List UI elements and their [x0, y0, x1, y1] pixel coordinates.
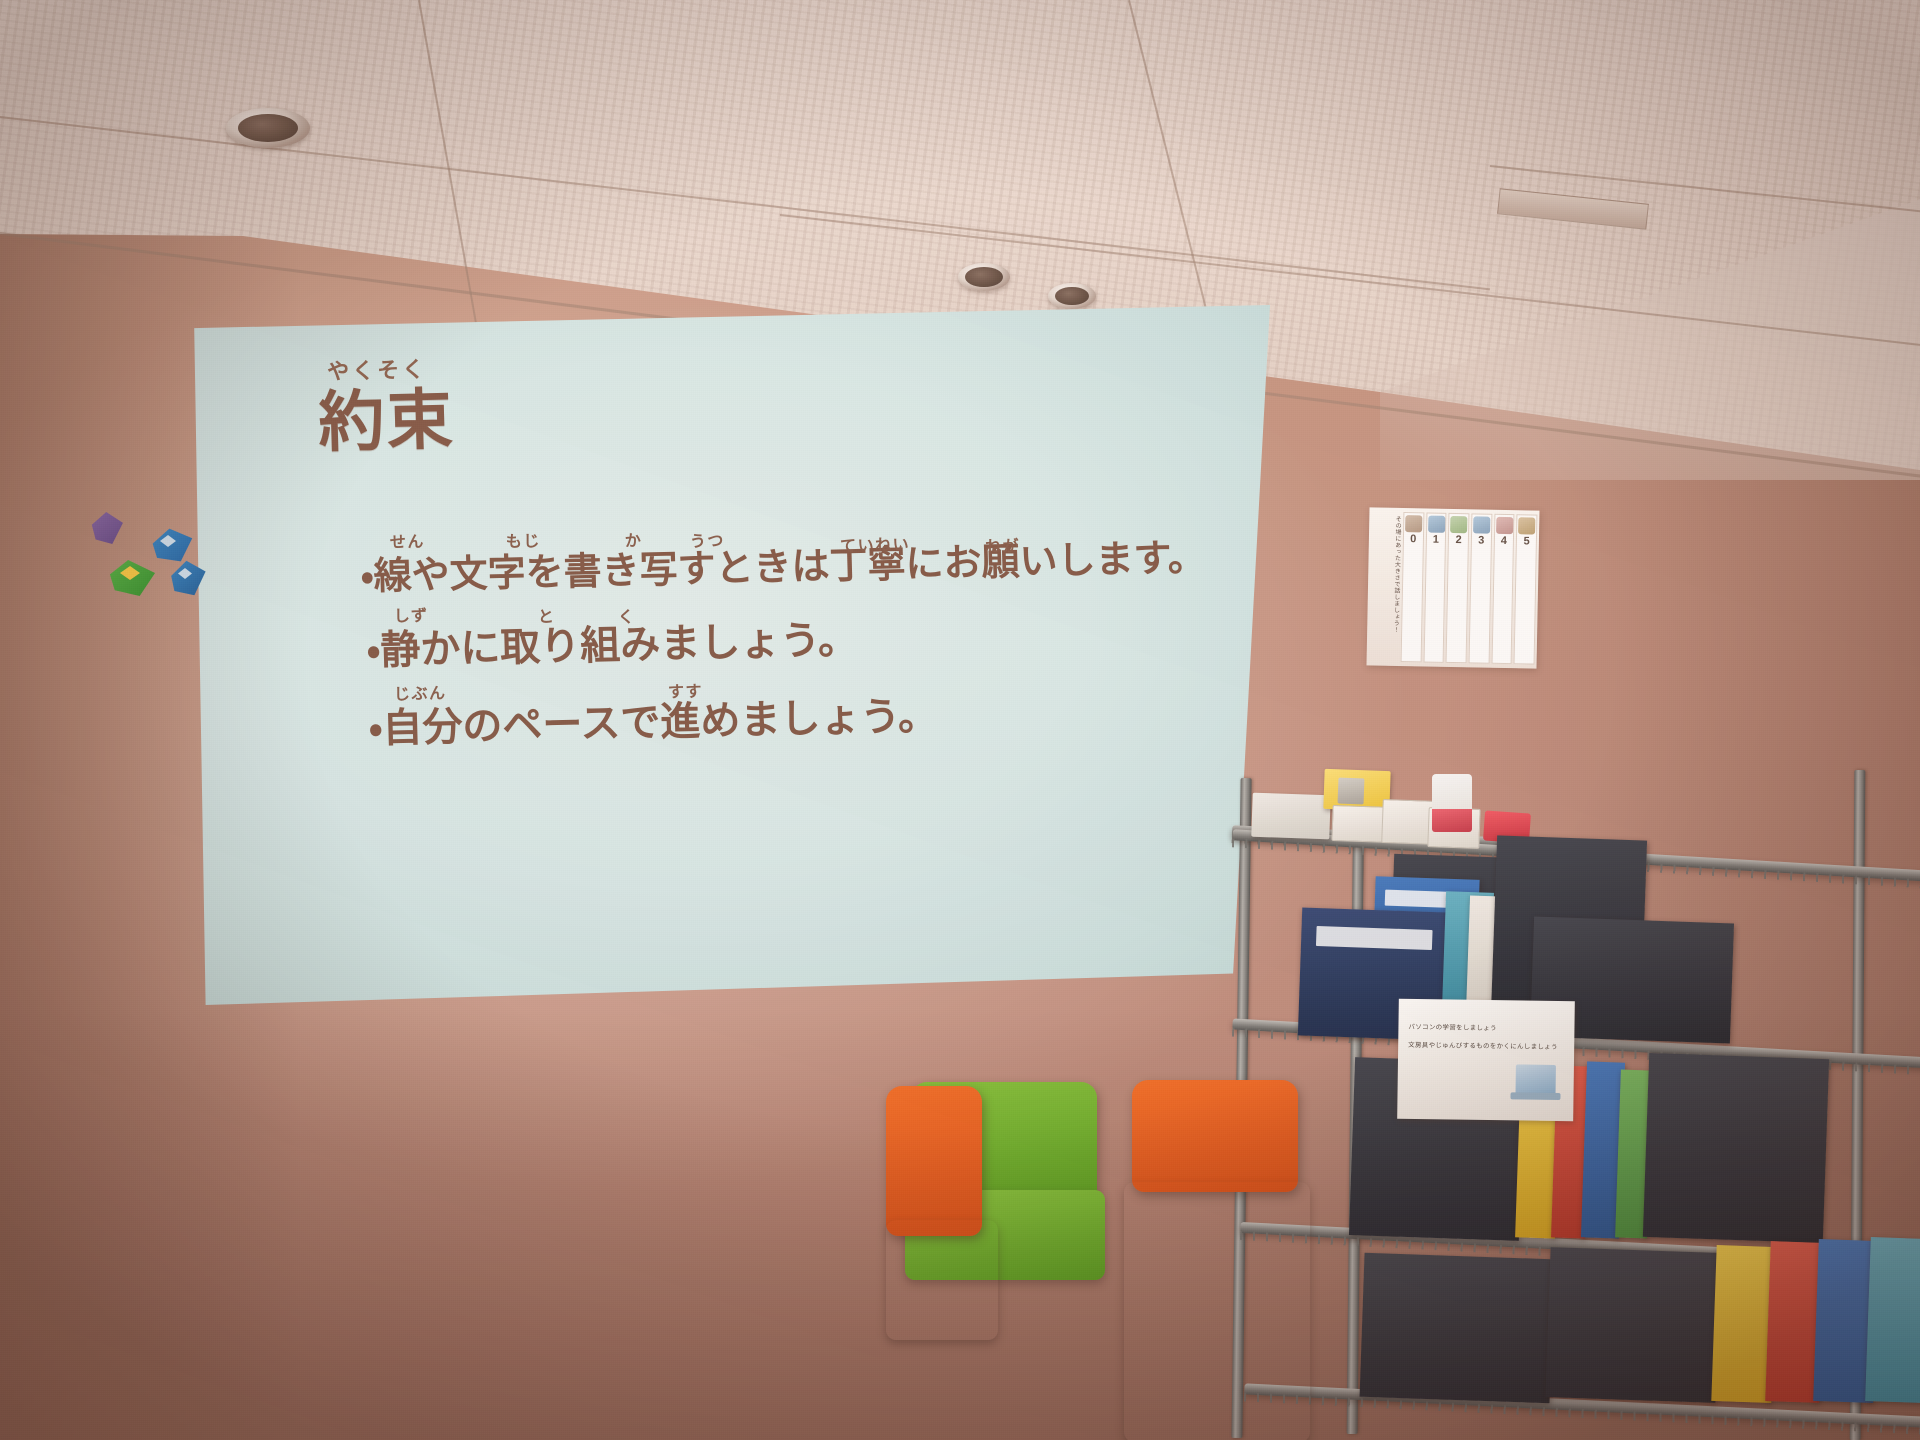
furigana-ku: く: [618, 609, 636, 625]
chair-orange-2: [1124, 1080, 1314, 1440]
slide-title-furigana: やくそく: [327, 359, 454, 384]
slide-bullet-list: せん もじ か うつ ていねい ねが ・線や文字を書き写すときは丁寧にお願いしま…: [360, 537, 1245, 749]
furigana-shizu: しず: [394, 608, 429, 625]
poster-number: 5: [1523, 536, 1529, 547]
poster-photo: [1496, 517, 1513, 534]
slide-bullet-1-text: ・線や文字を書き写すときは丁寧にお願いします。: [360, 535, 1206, 598]
binder-dark-5: [1643, 1053, 1829, 1243]
poster-number: 2: [1455, 535, 1461, 546]
binder-dark-7: [1545, 1247, 1720, 1403]
chair-back: [1132, 1080, 1298, 1192]
laptop-icon: [1516, 1064, 1556, 1095]
chair-seat: [1124, 1182, 1310, 1440]
poster-column: 4: [1491, 514, 1515, 664]
poster-photo: [1518, 517, 1535, 534]
poster-column: 3: [1469, 513, 1493, 663]
poster-column: 5: [1514, 514, 1538, 664]
slide-title-base: 約束: [318, 385, 456, 457]
room-photo: やくそく 約束 せん もじ か うつ ていねい ねが ・線や文字を書き写すときは…: [0, 0, 1920, 1440]
storage-shelf: [1232, 770, 1920, 1440]
furigana-to: と: [538, 609, 556, 625]
furigana-moji: もじ: [506, 533, 541, 550]
screen-surface: やくそく 約束 せん もじ か うつ ていねい ねが ・線や文字を書き写すときは…: [185, 305, 1270, 1005]
slide-bullet-2: しず と く ・静かに取り組みましょう。: [366, 611, 1243, 671]
notice-line-1: パソコンの学習をしましょう: [1408, 1021, 1497, 1032]
poster-number: 1: [1433, 535, 1439, 546]
furigana-jibun: じぶん: [394, 685, 447, 702]
poster-column: 2: [1446, 513, 1470, 663]
downlight-icon: [958, 263, 1010, 291]
furigana-ka: か: [625, 533, 643, 549]
slide-bullet-3-text: ・自分のペースで進めましょう。: [368, 693, 938, 752]
slide-content: やくそく 約束 せん もじ か うつ ていねい ねが ・線や文字を書き写すときは…: [176, 293, 1280, 1017]
furigana-nega: ねが: [985, 538, 1020, 555]
slide-bullet-2-text: ・静かに取り組みましょう。: [366, 617, 858, 674]
poster-photo: [1450, 516, 1467, 533]
chair-orange: [886, 1078, 1006, 1438]
notice-sign: パソコンの学習をしましょう 文房具やじゅんびするものをかくにんしましょう: [1397, 999, 1575, 1121]
downlight-icon: [226, 108, 310, 148]
poster-photo: [1473, 516, 1490, 533]
slide-bullet-3: じぶん すす ・自分のペースで進めましょう。: [368, 689, 1245, 749]
poster-column: 1: [1423, 512, 1447, 662]
grey-box: [1338, 778, 1365, 805]
poster-number: 3: [1478, 535, 1484, 546]
tissue-box: [1251, 793, 1330, 840]
slide-bullet-1: せん もじ か うつ ていねい ねが ・線や文字を書き写すときは丁寧にお願いしま…: [360, 537, 1241, 595]
poster-side-text: その場にあった大きさで話しましょう！: [1372, 515, 1400, 632]
notice-line-2: 文房具やじゅんびするものをかくにんしましょう: [1408, 1039, 1558, 1051]
binder-teal-2: [1865, 1237, 1920, 1403]
poster-column: 0: [1401, 512, 1425, 662]
poster-number: 4: [1501, 536, 1507, 547]
wall-poster: その場にあった大きさで話しましょう！ 0 1 2 3 4 5: [1366, 507, 1539, 668]
furigana-teinei: ていねい: [840, 537, 910, 555]
poster-photo: [1428, 516, 1445, 533]
binder-dark-6: [1360, 1253, 1555, 1404]
poster-columns: 0 1 2 3 4 5: [1401, 512, 1538, 665]
furigana-utsu: うつ: [690, 533, 725, 550]
chair-seat: [886, 1220, 998, 1340]
chair-back: [886, 1086, 982, 1236]
poster-number: 0: [1410, 534, 1416, 545]
furigana-sen: せん: [390, 534, 425, 551]
slide-title: やくそく 約束: [317, 359, 456, 457]
furigana-susu: すす: [668, 684, 703, 701]
projection-screen: やくそく 約束 せん もじ か うつ ていねい ねが ・線や文字を書き写すときは…: [185, 305, 1270, 1005]
pink-cup: [1432, 774, 1472, 832]
poster-photo: [1405, 515, 1422, 532]
